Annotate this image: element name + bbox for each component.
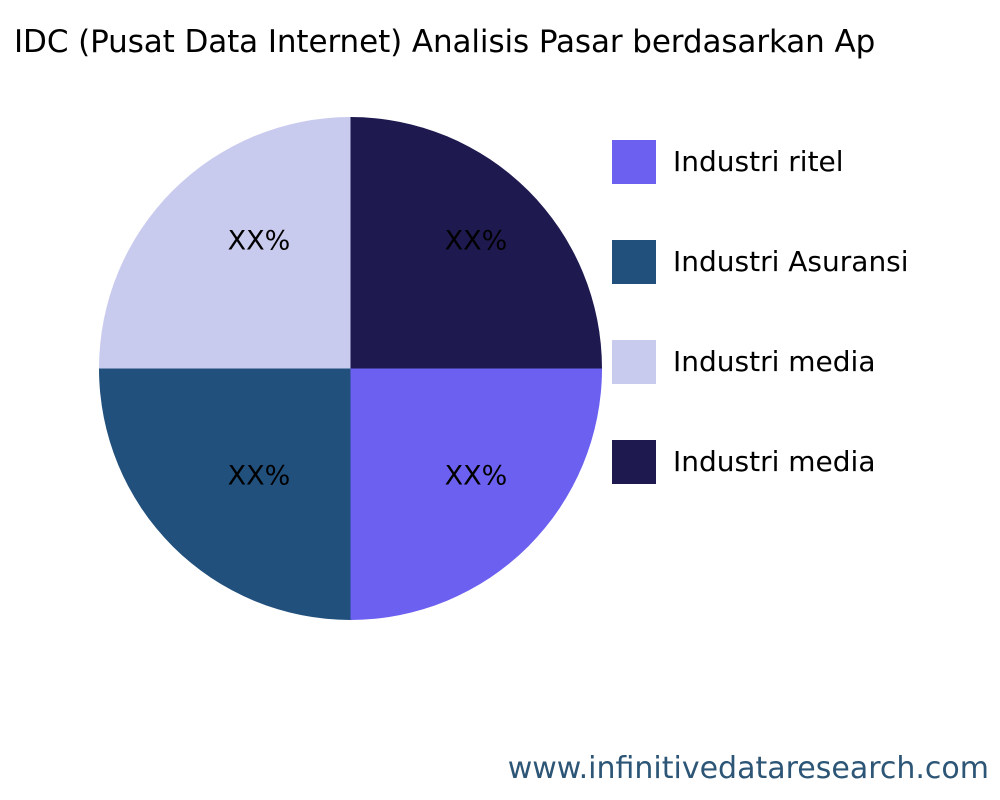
pie-slice[interactable] [351, 369, 603, 621]
legend-color-swatch [612, 240, 656, 284]
legend-item[interactable]: Industri media [612, 412, 992, 512]
pie-slice-group [99, 117, 602, 620]
pie-slice-label: XX% [228, 461, 291, 492]
pie-chart: XX%XX%XX%XX% [99, 117, 602, 620]
chart-canvas: IDC (Pusat Data Internet) Analisis Pasar… [0, 0, 1000, 800]
chart-title: IDC (Pusat Data Internet) Analisis Pasar… [14, 22, 1000, 62]
legend-item[interactable]: Industri media [612, 312, 992, 412]
legend-item[interactable]: Industri ritel [612, 112, 992, 212]
legend-color-swatch [612, 140, 656, 184]
legend-item-label: Industri ritel [673, 145, 844, 179]
footer-url: www.infinitivedataresearch.com [0, 750, 1000, 788]
pie-slice[interactable] [99, 117, 351, 369]
pie-slice-label: XX% [445, 461, 508, 492]
pie-chart-svg: XX%XX%XX%XX% [99, 117, 602, 620]
pie-slice-label: XX% [228, 226, 291, 257]
legend-item-label: Industri Asuransi [673, 245, 909, 279]
legend-color-swatch [612, 340, 656, 384]
pie-slice-label: XX% [445, 226, 508, 257]
legend-color-swatch [612, 440, 656, 484]
legend-item[interactable]: Industri Asuransi [612, 212, 992, 312]
chart-legend: Industri ritelIndustri AsuransiIndustri … [612, 112, 992, 512]
pie-slice[interactable] [99, 369, 351, 621]
legend-item-label: Industri media [673, 445, 876, 479]
legend-item-label: Industri media [673, 345, 876, 379]
